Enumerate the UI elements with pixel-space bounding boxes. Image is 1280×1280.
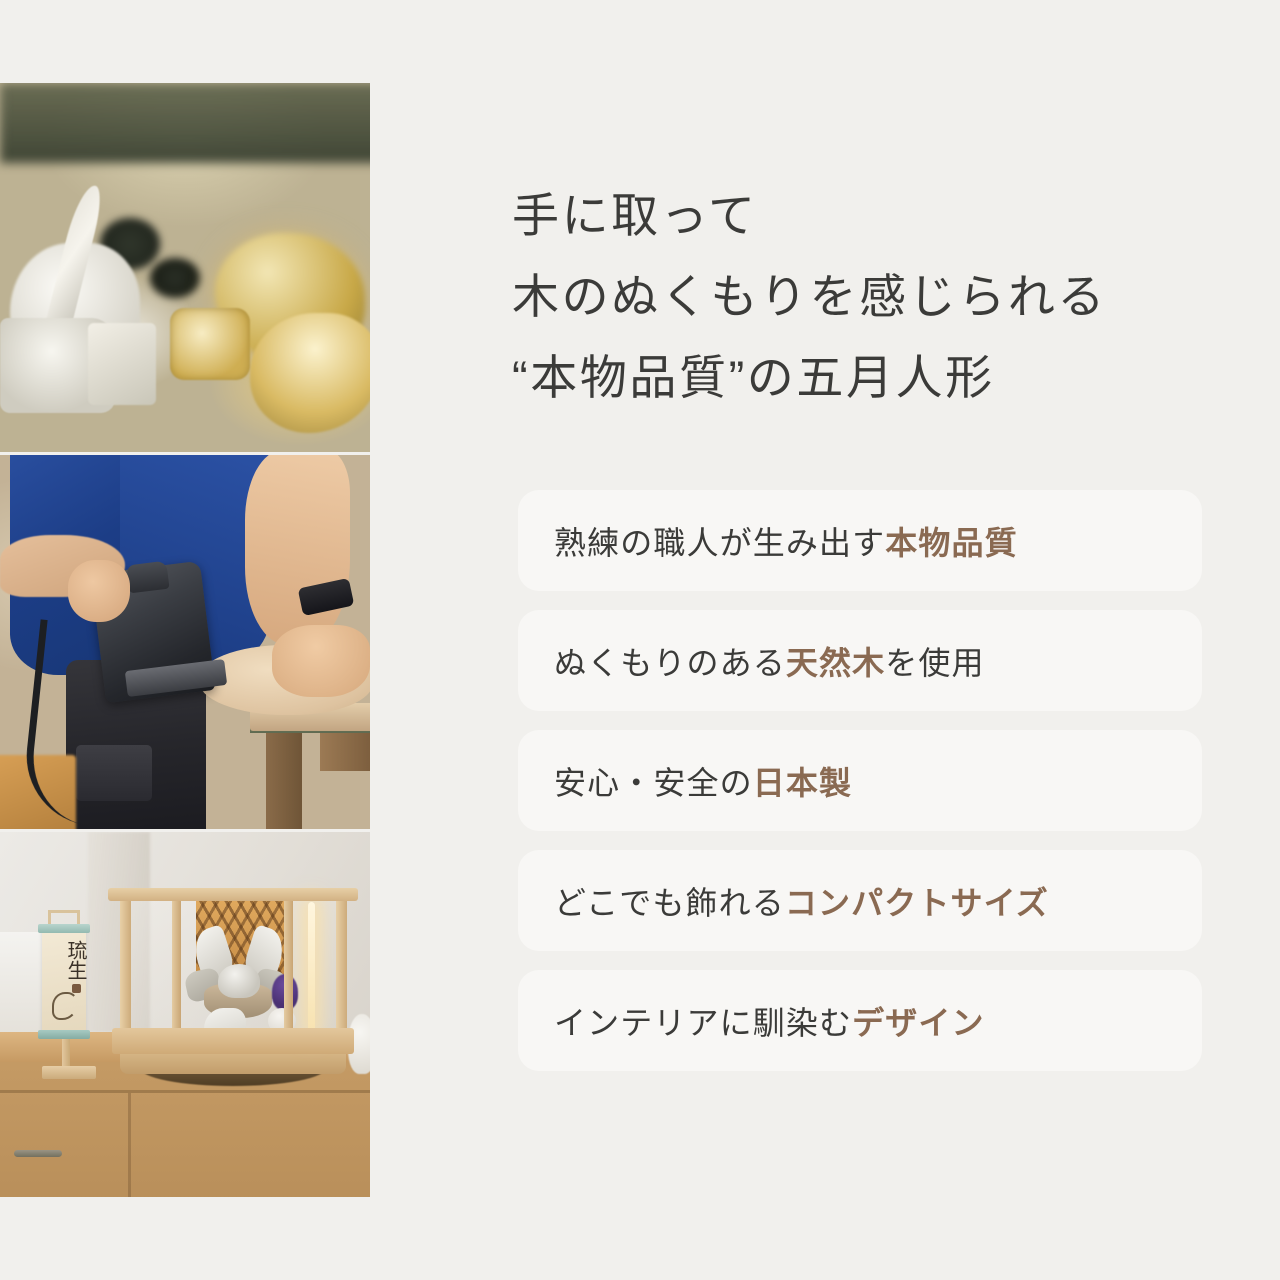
silver-ornament bbox=[88, 323, 156, 405]
feature-plain-before: 熟練の職人が生み出す bbox=[554, 525, 885, 561]
right-hand bbox=[272, 625, 370, 697]
feature-card-compact-size: どこでも飾れるコンパクトサイズ bbox=[518, 850, 1202, 951]
case-roof bbox=[108, 888, 358, 901]
case-post bbox=[120, 894, 131, 1032]
case-post bbox=[172, 894, 181, 1032]
right-arm bbox=[245, 455, 350, 645]
content-panel: 手に取って 木のぬくもりを感じられる “本物品質”の五月人形 熟練の職人が生み出… bbox=[512, 0, 1212, 1280]
feature-text: インテリアに馴染むデザイン bbox=[554, 998, 985, 1044]
feature-text: どこでも飾れるコンパクトサイズ bbox=[554, 878, 1049, 924]
photo-kabuto-metal-fittings bbox=[0, 83, 370, 452]
feature-highlight: デザイン bbox=[852, 1005, 984, 1041]
case-post bbox=[336, 894, 347, 1032]
left-hand bbox=[68, 560, 130, 622]
sideboard-seam bbox=[128, 1093, 131, 1197]
case-platform bbox=[112, 1028, 354, 1054]
feature-card-made-in-japan: 安心・安全の日本製 bbox=[518, 730, 1202, 831]
feature-card-interior-design: インテリアに馴染むデザイン bbox=[518, 970, 1202, 1071]
page-title: 手に取って 木のぬくもりを感じられる “本物品質”の五月人形 bbox=[512, 176, 1107, 418]
case-post bbox=[284, 894, 293, 1032]
decorative-shadow bbox=[150, 258, 200, 298]
feature-plain-before: 安心・安全の bbox=[554, 765, 753, 801]
workbench-surface bbox=[0, 83, 370, 163]
kabuto-bowl bbox=[218, 964, 260, 998]
workbench-leg bbox=[320, 731, 370, 771]
gold-ornament bbox=[250, 313, 370, 433]
headline-line-2: 木のぬくもりを感じられる bbox=[512, 257, 1107, 338]
feature-text: 安心・安全の日本製 bbox=[554, 758, 852, 804]
feature-plain-after: を使用 bbox=[885, 645, 984, 681]
scroll-bar-bottom bbox=[38, 1030, 90, 1039]
sander-grip bbox=[126, 561, 169, 594]
feature-list: 熟練の職人が生み出す本物品質 ぬくもりのある天然木を使用 安心・安全の日本製 ど… bbox=[518, 490, 1202, 1071]
headline-line-3: “本物品質”の五月人形 bbox=[512, 338, 1107, 419]
feature-card-authentic-quality: 熟練の職人が生み出す本物品質 bbox=[518, 490, 1202, 591]
photo-column: 琉生 bbox=[0, 83, 370, 1197]
scroll-bar-top bbox=[38, 924, 90, 933]
name-scroll-text: 琉生 bbox=[42, 932, 86, 988]
gold-ornament bbox=[170, 308, 250, 380]
drawer-handle bbox=[14, 1150, 62, 1157]
feature-plain-before: ぬくもりのある bbox=[554, 645, 786, 681]
workbench-leg bbox=[266, 731, 302, 829]
photo-craftsman-sanding-wood bbox=[0, 455, 370, 829]
feature-highlight: 日本製 bbox=[753, 765, 852, 801]
feature-plain-before: どこでも飾れる bbox=[554, 885, 785, 921]
feature-text: 熟練の職人が生み出す本物品質 bbox=[554, 518, 1018, 564]
feature-highlight: 天然木 bbox=[786, 645, 885, 681]
sideboard-seam bbox=[0, 1090, 370, 1093]
feature-card-natural-wood: ぬくもりのある天然木を使用 bbox=[518, 610, 1202, 711]
headline-line-1: 手に取って bbox=[512, 176, 1107, 257]
feature-highlight: 本物品質 bbox=[885, 525, 1017, 561]
photo-kabuto-display-case: 琉生 bbox=[0, 832, 370, 1197]
feature-highlight: コンパクトサイズ bbox=[785, 885, 1049, 921]
feature-plain-before: インテリアに馴染む bbox=[554, 1005, 852, 1041]
case-light bbox=[308, 902, 315, 1034]
scroll-seal bbox=[72, 984, 81, 993]
feature-text: ぬくもりのある天然木を使用 bbox=[554, 638, 985, 684]
scroll-stand-base bbox=[42, 1066, 96, 1079]
